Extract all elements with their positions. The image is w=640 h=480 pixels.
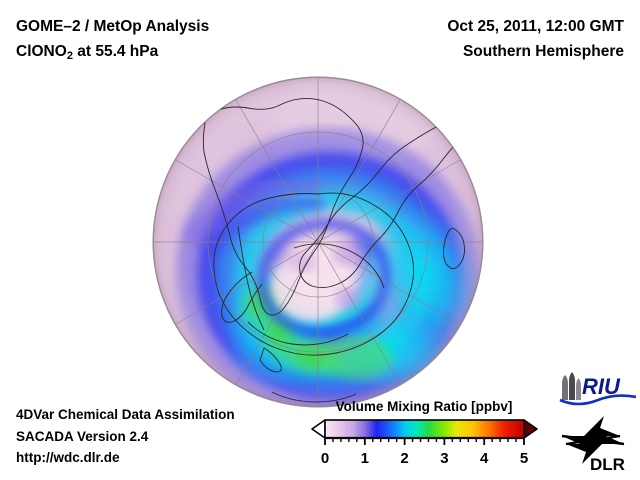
colorbar-ticks	[325, 438, 524, 445]
colorbar-title: Volume Mixing Ratio [ppbv]	[305, 399, 543, 414]
colorbar: Volume Mixing Ratio [ppbv] 012345	[305, 399, 543, 475]
species-subscript: 2	[67, 50, 73, 62]
colorbar-tick-labels: 012345	[305, 450, 543, 472]
attribution-block: 4DVar Chemical Data Assimilation SACADA …	[16, 404, 235, 469]
attribution-line-2: SACADA Version 2.4	[16, 426, 235, 448]
colorbar-tick-label: 1	[361, 450, 369, 467]
dlr-logo: DLR	[560, 414, 632, 479]
datetime-label: Oct 25, 2011, 12:00 GMT	[447, 14, 624, 39]
colorbar-tick-label: 4	[480, 450, 488, 467]
colorbar-gradient	[305, 418, 543, 448]
species-suffix: at 55.4 hPa	[73, 43, 158, 60]
header-left-block: GOME–2 / MetOp Analysis ClONO2 at 55.4 h…	[16, 14, 209, 66]
riu-towers-icon	[562, 372, 581, 400]
globe-map	[152, 76, 484, 408]
attribution-url[interactable]: http://wdc.dlr.de	[16, 447, 235, 469]
colorbar-under-arrow	[312, 420, 325, 438]
region-label: Southern Hemisphere	[447, 39, 624, 64]
species-title: ClONO2 at 55.4 hPa	[16, 39, 209, 66]
colorbar-over-arrow	[524, 420, 537, 438]
colorbar-bar	[325, 420, 524, 438]
colorbar-tick-label: 5	[520, 450, 528, 467]
riu-logo: RIU	[556, 372, 638, 411]
dlr-wordmark: DLR	[590, 455, 625, 474]
colorbar-tick-label: 2	[400, 450, 408, 467]
header-right-block: Oct 25, 2011, 12:00 GMT Southern Hemisph…	[447, 14, 624, 64]
instrument-title: GOME–2 / MetOp Analysis	[16, 14, 209, 39]
attribution-line-1: 4DVar Chemical Data Assimilation	[16, 404, 235, 426]
species-prefix: ClONO	[16, 43, 67, 60]
colorbar-tick-label: 3	[440, 450, 448, 467]
colorbar-tick-label: 0	[321, 450, 329, 467]
